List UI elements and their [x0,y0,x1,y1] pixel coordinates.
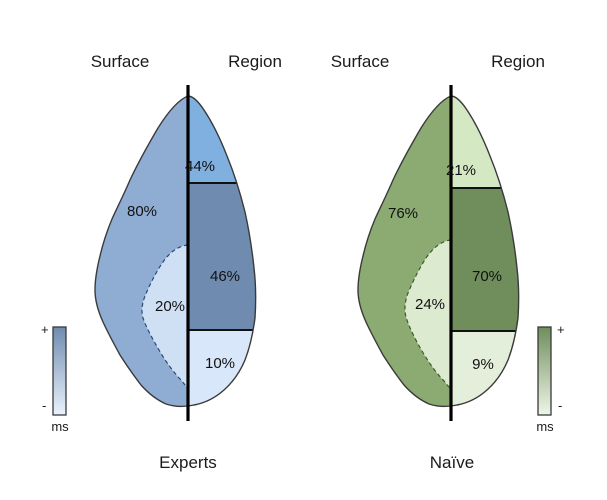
naive-colorbar-minus-label: - [558,398,562,413]
experts-panel-caption: Experts [128,453,248,473]
experts-region-46-fill [188,183,308,330]
experts-colorbar-plus-label: + [41,322,49,337]
naive-region-header: Region [458,52,578,72]
naive-region-9-fill [451,331,571,426]
naive-panel-caption: Naïve [392,453,512,473]
experts-region-10-fill [188,330,308,425]
experts-colorbar-minus-label: - [42,398,46,413]
naive-surface-header: Surface [300,52,420,72]
naive-region-21-fill [451,80,571,188]
experts-region-44-fill [188,80,308,183]
naive-region-70-fill [451,188,571,331]
naive-ms-colorbar [538,327,551,415]
naive-colorbar-unit-label: ms [523,419,567,434]
experts-ms-colorbar [53,327,66,415]
experts-colorbar-unit-label: ms [38,419,82,434]
teardrop-shapes-svg [0,0,607,500]
naive-colorbar-plus-label: + [557,322,565,337]
figure-canvas: Surface Region [0,0,607,500]
experts-shape-group [80,80,310,425]
